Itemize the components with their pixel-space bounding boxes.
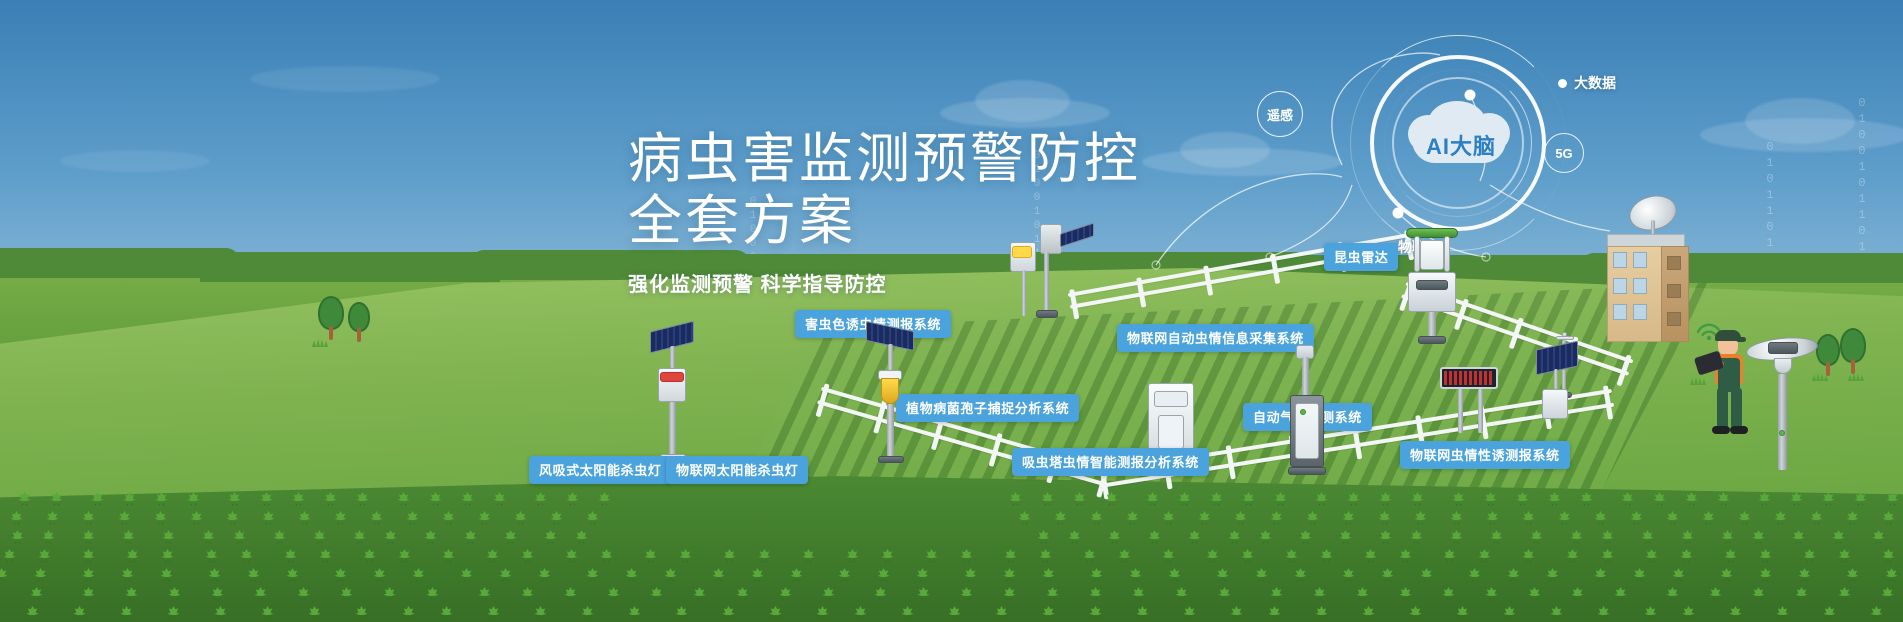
tree — [1840, 328, 1866, 374]
equipment-label-wind-solar-lamp[interactable]: 风吸式太阳能杀虫灯 — [529, 456, 671, 484]
equipment-label-insect-radar[interactable]: 昆虫雷达 — [1324, 243, 1398, 271]
ai-hub: AI大脑 遥感 大数据 5G 物联网 — [1300, 45, 1760, 275]
tree — [348, 302, 370, 342]
foreground-crop-field — [0, 470, 1903, 622]
hub-node-big-data[interactable]: 大数据 — [1574, 73, 1616, 93]
hub-node-dot-big-data — [1558, 79, 1567, 88]
equipment-label-iot-insect-collector[interactable]: 物联网自动虫情信息采集系统 — [1117, 324, 1314, 352]
ai-brain-label: AI大脑 — [1426, 129, 1496, 161]
horizon-hedge — [200, 252, 500, 282]
hub-node-remote-sensing[interactable]: 遥感 — [1257, 91, 1303, 137]
equipment-label-iot-solar-lamp[interactable]: 物联网太阳能杀虫灯 — [666, 456, 808, 484]
field-worker — [1700, 330, 1760, 440]
equipment-label-spore-capture[interactable]: 植物病菌孢子捕捉分析系统 — [896, 394, 1079, 422]
equipment-label-suction-tower[interactable]: 吸虫塔虫情智能测报分析系统 — [1012, 448, 1209, 476]
cloud-decoration — [60, 150, 210, 172]
solution-banner: 0100010011010010 010010110100101 0101101… — [0, 0, 1903, 622]
tree — [318, 296, 344, 340]
cloud-decoration — [250, 66, 440, 92]
hub-node-5g[interactable]: 5G — [1544, 133, 1584, 173]
tree — [1816, 334, 1840, 376]
cloud-decoration — [1745, 98, 1855, 144]
equipment-label-iot-sex-lure[interactable]: 物联网虫情性诱测报系统 — [1400, 441, 1570, 469]
